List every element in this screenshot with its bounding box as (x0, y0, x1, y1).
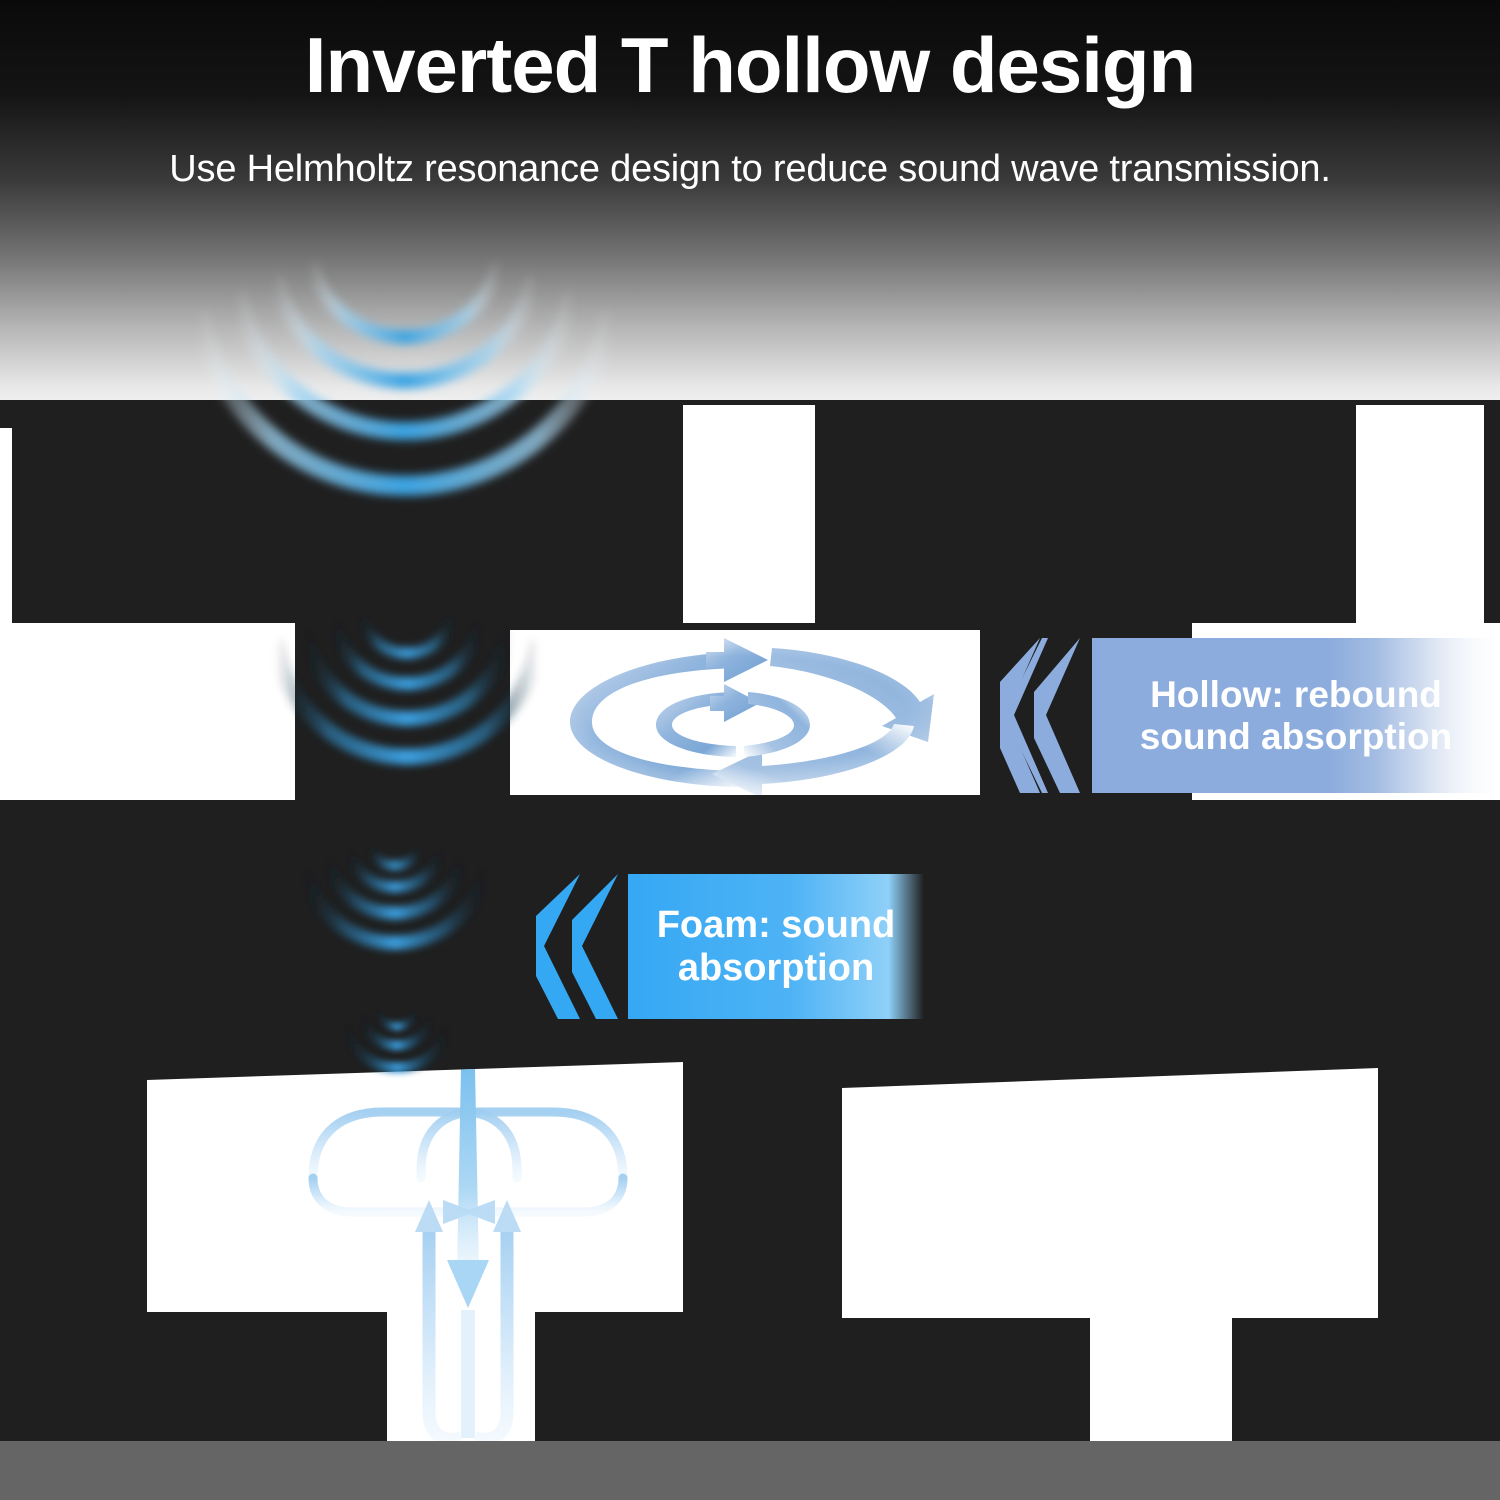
air-gap-right-mid (1356, 405, 1484, 623)
callout-foam-text: Foam: sound absorption (628, 874, 924, 1019)
air-gap-left-edge (0, 428, 12, 623)
callout-hollow-rebound[interactable]: Hollow: rebound sound absorption (1000, 638, 1500, 793)
rebound-arrows-panel (510, 630, 980, 795)
air-gap-left-strip (0, 623, 295, 800)
inverted-t-cavity-right (840, 1060, 1380, 1445)
page-subtitle: Use Helmholtz resonance design to reduce… (0, 148, 1500, 191)
callout-hollow-line2: sound absorption (1140, 716, 1452, 757)
double-chevron-left-icon (1000, 638, 1092, 793)
infographic-root: Hollow: rebound sound absorption Foam: s… (0, 0, 1500, 1500)
double-chevron-left-icon (536, 874, 628, 1019)
callout-foam-line1: Foam: sound (657, 904, 896, 946)
floor-bar (0, 1441, 1500, 1500)
callout-foam-absorption[interactable]: Foam: sound absorption (536, 874, 924, 1019)
air-gap-between-block1-block2 (683, 405, 815, 623)
inverted-t-cavity-left (145, 1060, 685, 1445)
callout-hollow-text: Hollow: rebound sound absorption (1092, 638, 1500, 793)
callout-foam-line2: absorption (678, 947, 874, 989)
callout-hollow-line1: Hollow: rebound (1150, 674, 1442, 715)
page-title: Inverted T hollow design (0, 26, 1500, 104)
circular-rebound-arrows-icon (510, 782, 980, 795)
